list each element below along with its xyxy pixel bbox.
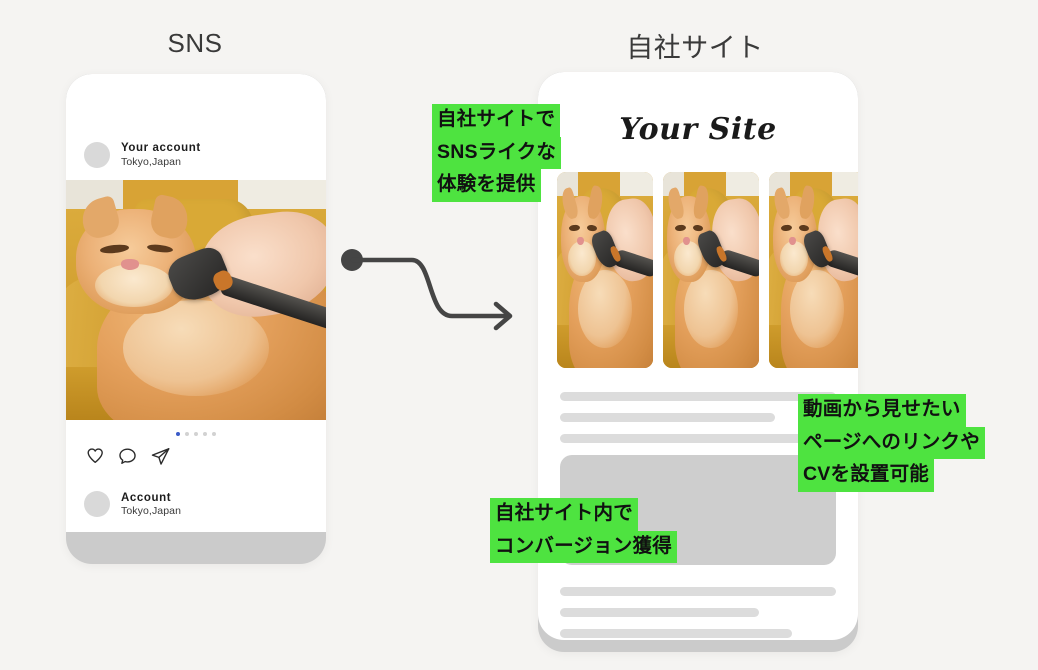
callout-line: 自社サイト内で bbox=[490, 498, 638, 531]
account-name: Your account bbox=[121, 141, 201, 155]
carousel-dot[interactable] bbox=[185, 432, 189, 436]
callout-line: 動画から見せたい bbox=[798, 394, 966, 427]
comment-icon[interactable] bbox=[117, 446, 138, 467]
placeholder-line bbox=[560, 629, 792, 638]
carousel-dots[interactable] bbox=[66, 420, 326, 436]
callout-sns-like: 自社サイトで SNSライクな 体験を提供 bbox=[432, 104, 561, 202]
carousel-dot[interactable] bbox=[194, 432, 198, 436]
curved-arrow-connector bbox=[340, 248, 530, 343]
sns-top-account-row: Your account Tokyo,Japan bbox=[66, 130, 326, 180]
callout-line: CVを設置可能 bbox=[798, 459, 934, 492]
post-action-bar bbox=[66, 436, 326, 467]
sns-screen: Your account Tokyo,Japan bbox=[66, 74, 326, 532]
sns-post-photo bbox=[66, 180, 326, 420]
diagram-stage: SNS 自社サイト Your account Tokyo,Japan bbox=[0, 0, 1038, 670]
avatar bbox=[84, 142, 110, 168]
video-thumbnail-carousel[interactable] bbox=[557, 172, 858, 368]
placeholder-line bbox=[560, 413, 775, 422]
heading-own-site: 自社サイト bbox=[565, 26, 825, 65]
placeholder-line bbox=[560, 434, 803, 443]
carousel-dot[interactable] bbox=[212, 432, 216, 436]
callout-line: 自社サイトで bbox=[432, 104, 560, 137]
share-icon[interactable] bbox=[150, 446, 171, 467]
placeholder-line bbox=[560, 608, 759, 617]
carousel-dot[interactable] bbox=[176, 432, 180, 436]
carousel-dot[interactable] bbox=[203, 432, 207, 436]
cat-photo bbox=[557, 172, 653, 368]
account-name: Account bbox=[121, 491, 181, 505]
cat-photo bbox=[769, 172, 858, 368]
placeholder-line bbox=[560, 392, 836, 401]
account-location: Tokyo,Japan bbox=[121, 156, 201, 169]
video-thumbnail[interactable] bbox=[557, 172, 653, 368]
placeholder-line bbox=[560, 587, 836, 596]
cat-photo bbox=[66, 180, 326, 420]
callout-line: コンバージョン獲得 bbox=[490, 531, 677, 564]
callout-conversion: 自社サイト内で コンバージョン獲得 bbox=[490, 498, 677, 563]
site-logo: Your Site bbox=[538, 112, 858, 147]
phone-mockup-own-site: Your Site bbox=[538, 72, 858, 652]
video-thumbnail[interactable] bbox=[663, 172, 759, 368]
callout-cv-placement: 動画から見せたい ページへのリンクや CVを設置可能 bbox=[798, 394, 985, 492]
video-thumbnail[interactable] bbox=[769, 172, 858, 368]
heading-sns: SNS bbox=[95, 28, 295, 59]
callout-line: ページへのリンクや bbox=[798, 427, 985, 460]
phone-mockup-sns: Your account Tokyo,Japan bbox=[66, 74, 326, 564]
sns-bottom-account-row: Account Tokyo,Japan bbox=[66, 491, 326, 519]
like-icon[interactable] bbox=[84, 446, 105, 467]
cat-photo bbox=[663, 172, 759, 368]
avatar bbox=[84, 491, 110, 517]
sns-post-footer: Account Tokyo,Japan bbox=[66, 420, 326, 532]
callout-line: 体験を提供 bbox=[432, 169, 541, 202]
callout-line: SNSライクな bbox=[432, 137, 561, 170]
account-location: Tokyo,Japan bbox=[121, 505, 181, 518]
